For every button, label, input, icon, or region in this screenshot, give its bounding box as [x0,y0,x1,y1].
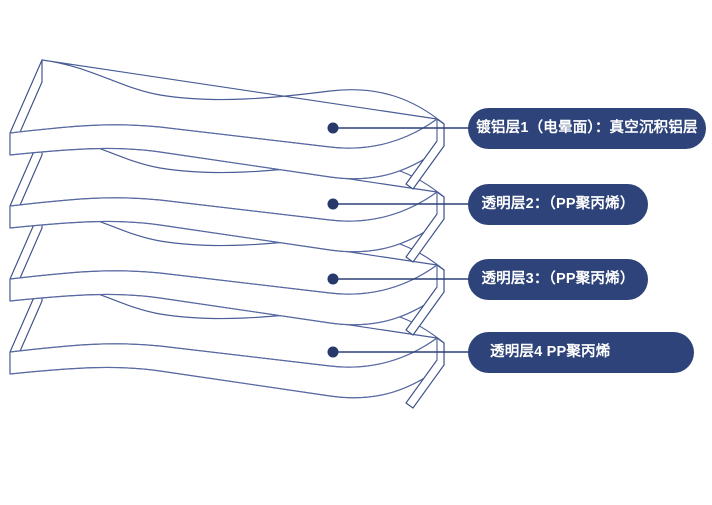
leader-dot-layer-4 [328,347,339,358]
leader-dot-layer-1 [328,123,339,134]
callout-label-layer-3: 透明层3：（PP聚丙烯） [481,272,634,287]
callout-layer-1[interactable]: 镀铝层1（电晕面）：真空沉积铝层 [468,108,706,149]
leader-dot-layer-3 [328,274,339,285]
leader-line-layer-2 [328,199,471,210]
leader-line-layer-1 [328,123,471,134]
callout-label-layer-4: 透明层4 PP聚丙烯 [490,345,610,360]
layer-stack-illustration [0,0,712,505]
leader-line-layer-3 [328,274,471,285]
callout-layer-2[interactable]: 透明层2：（PP聚丙烯） [468,184,648,225]
callout-label-layer-1: 镀铝层1（电晕面）：真空沉积铝层 [476,121,698,136]
callout-label-layer-2: 透明层2：（PP聚丙烯） [481,197,634,212]
callout-layer-4[interactable]: 透明层4 PP聚丙烯 [468,332,694,373]
callout-layer-3[interactable]: 透明层3：（PP聚丙烯） [468,259,648,300]
leader-line-layer-4 [328,347,471,358]
layered-structure-diagram: 镀铝层1（电晕面）：真空沉积铝层 透明层2：（PP聚丙烯） 透明层3：（PP聚丙… [0,0,712,505]
leader-dot-layer-2 [328,199,339,210]
